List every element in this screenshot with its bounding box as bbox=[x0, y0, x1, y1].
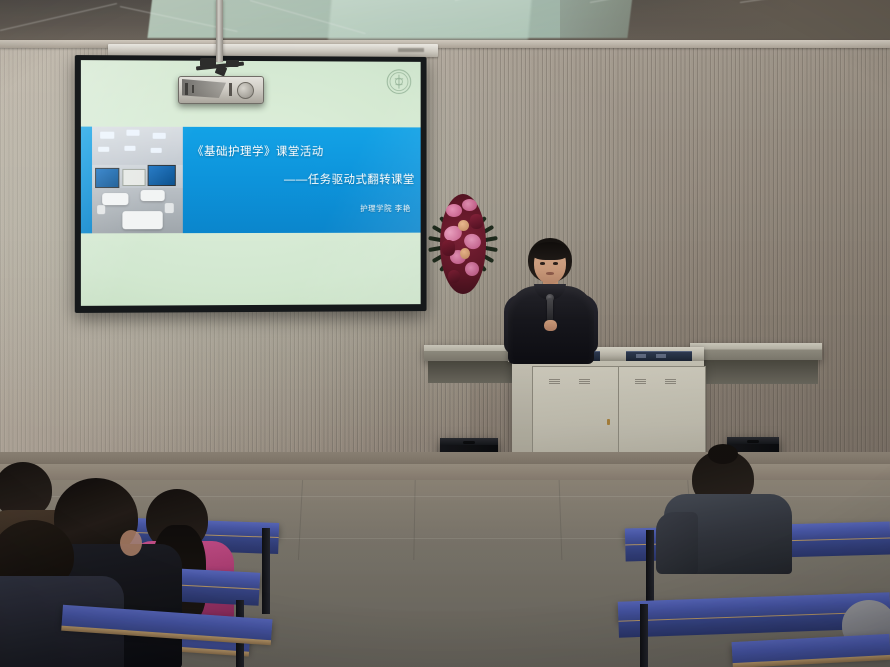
classroom-photo: 《基础护理学》课堂活动 ——任务驱动式翻转课堂 护理学院 李艳 bbox=[0, 0, 890, 667]
presenter-lecturer bbox=[498, 238, 602, 362]
slide-author: 护理学院 李艳 bbox=[360, 203, 411, 214]
presenter-eye-left bbox=[540, 262, 545, 265]
institution-seal-icon bbox=[385, 68, 413, 96]
desk-leg bbox=[640, 604, 648, 667]
podium-vent bbox=[579, 379, 590, 385]
speaker-handle bbox=[747, 440, 759, 443]
slide-content-band: 《基础护理学》课堂活动 ——任务驱动式翻转课堂 护理学院 李艳 bbox=[81, 127, 421, 234]
wreath-dark-bloom bbox=[448, 270, 460, 283]
wreath-bud bbox=[460, 248, 470, 259]
slide-embedded-photo bbox=[92, 127, 183, 234]
projector-vent bbox=[229, 83, 232, 96]
speaker-handle bbox=[463, 441, 475, 444]
ceiling-light-panel-inner bbox=[328, 0, 532, 40]
slide-photo-chair bbox=[97, 205, 105, 214]
projector-lens bbox=[237, 82, 254, 99]
student-front-left bbox=[0, 520, 124, 667]
student-right-gray-jacket bbox=[650, 450, 800, 570]
bracket-block bbox=[226, 60, 239, 67]
valance-marking bbox=[398, 48, 424, 52]
wreath-lily bbox=[462, 199, 477, 211]
slide-photo-display bbox=[95, 168, 119, 188]
floral-wreath bbox=[432, 178, 494, 310]
wreath-bud bbox=[458, 220, 469, 231]
wreath-flower-cluster bbox=[440, 194, 486, 294]
slide-photo-table bbox=[102, 193, 128, 205]
podium-vent bbox=[549, 379, 560, 385]
desk-leg bbox=[262, 528, 270, 614]
slide-photo-display bbox=[148, 165, 176, 186]
podium-lock[interactable] bbox=[607, 419, 610, 425]
presenter-fringe bbox=[531, 242, 569, 260]
wreath-dark-bloom bbox=[442, 240, 455, 256]
slide-photo-whiteboard bbox=[122, 169, 145, 186]
projector-bracket bbox=[196, 58, 244, 73]
slide-title: 《基础护理学》课堂活动 bbox=[192, 143, 324, 159]
ceiling-seam bbox=[0, 3, 117, 31]
podium-right-wing bbox=[690, 343, 822, 360]
slide-photo-light bbox=[124, 146, 135, 151]
slide-photo-light bbox=[126, 130, 139, 136]
slide-text-block: 《基础护理学》课堂活动 ——任务驱动式翻转课堂 护理学院 李艳 bbox=[186, 127, 421, 233]
wreath-lily bbox=[446, 204, 462, 217]
podium-vent bbox=[665, 379, 676, 385]
slide-photo-table bbox=[122, 211, 162, 229]
podium-right-wing-underside bbox=[694, 360, 818, 384]
presenter-eye-right bbox=[553, 262, 558, 265]
handheld-microphone bbox=[547, 298, 553, 322]
slide-subtitle: ——任务驱动式翻转课堂 bbox=[284, 171, 415, 187]
slide-photo-light bbox=[153, 133, 166, 139]
slide-photo-light bbox=[100, 132, 114, 139]
bracket-block bbox=[200, 58, 216, 67]
projector-mount-pole bbox=[216, 0, 223, 62]
slide-photo-chair bbox=[165, 203, 174, 213]
wreath-dark-bloom bbox=[470, 214, 483, 229]
slide-photo-table bbox=[141, 190, 165, 201]
podium-drawer-rail-right bbox=[626, 351, 692, 361]
slide-photo-light bbox=[98, 147, 109, 152]
floor-grout-line bbox=[413, 480, 415, 560]
presenter-mouth bbox=[546, 272, 554, 275]
presenter-hand bbox=[544, 320, 557, 331]
floor-grout-line bbox=[298, 480, 303, 560]
student-arm bbox=[656, 512, 698, 574]
podium-left-wing-underside bbox=[428, 361, 512, 383]
floor-grout-line bbox=[559, 480, 563, 560]
wreath-lily bbox=[465, 262, 479, 276]
slide-photo-light bbox=[151, 148, 162, 153]
podium-vent bbox=[635, 379, 646, 385]
student-hair-bun bbox=[708, 444, 738, 464]
